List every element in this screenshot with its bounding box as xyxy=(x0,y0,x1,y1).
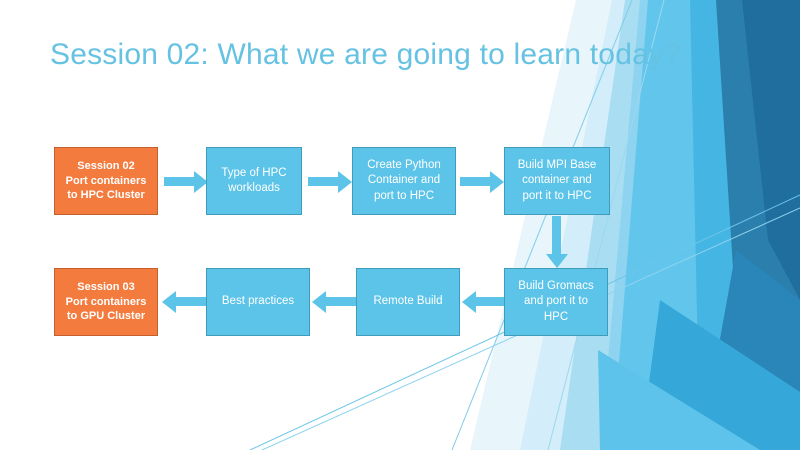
arrow-head-left-icon xyxy=(312,291,326,313)
flow-box-type-of-hpc-workloads-label: Type of HPC workloads xyxy=(212,166,296,196)
arrow-head-right-icon xyxy=(338,171,352,193)
connector-arrow-remote-build-to-best-practices xyxy=(326,297,356,306)
arrow-head-left-icon xyxy=(462,291,476,313)
flow-box-remote-build[interactable]: Remote Build xyxy=(356,268,460,336)
connector-arrow-3-to-4 xyxy=(460,177,490,186)
flow-box-build-mpi-base-container-label: Build MPI Base container and port it to … xyxy=(510,158,604,204)
flow-box-session-03-label: Session 03 Port containers to GPU Cluste… xyxy=(60,280,152,324)
arrow-head-left-icon xyxy=(162,291,176,313)
page-title: Session 02: What we are going to learn t… xyxy=(50,38,681,72)
flow-box-create-python-container[interactable]: Create Python Container and port to HPC xyxy=(352,147,456,215)
slide-canvas: Session 02: What we are going to learn t… xyxy=(0,0,800,450)
flow-box-session-03[interactable]: Session 03 Port containers to GPU Cluste… xyxy=(54,268,158,336)
flow-box-remote-build-label: Remote Build xyxy=(362,294,454,309)
flow-box-build-gromacs-label: Build Gromacs and port it to HPC xyxy=(510,279,602,325)
flow-box-build-mpi-base-container[interactable]: Build MPI Base container and port it to … xyxy=(504,147,610,215)
arrow-head-down-icon xyxy=(546,254,568,268)
flow-box-best-practices-label: Best practices xyxy=(212,294,304,309)
connector-arrow-best-practices-to-session-03 xyxy=(176,297,206,306)
flow-box-build-gromacs[interactable]: Build Gromacs and port it to HPC xyxy=(504,268,608,336)
connector-arrow-1-to-2 xyxy=(164,177,194,186)
flow-box-create-python-container-label: Create Python Container and port to HPC xyxy=(358,158,450,204)
flow-box-session-02-label: Session 02 Port containers to HPC Cluste… xyxy=(60,159,152,203)
flow-box-session-02[interactable]: Session 02 Port containers to HPC Cluste… xyxy=(54,147,158,215)
flow-box-type-of-hpc-workloads[interactable]: Type of HPC workloads xyxy=(206,147,302,215)
connector-arrow-gromacs-to-remote-build xyxy=(476,297,506,306)
arrow-head-right-icon xyxy=(490,171,504,193)
connector-arrow-4-down-to-gromacs xyxy=(552,216,561,254)
flow-box-best-practices[interactable]: Best practices xyxy=(206,268,310,336)
connector-arrow-2-to-3 xyxy=(308,177,338,186)
